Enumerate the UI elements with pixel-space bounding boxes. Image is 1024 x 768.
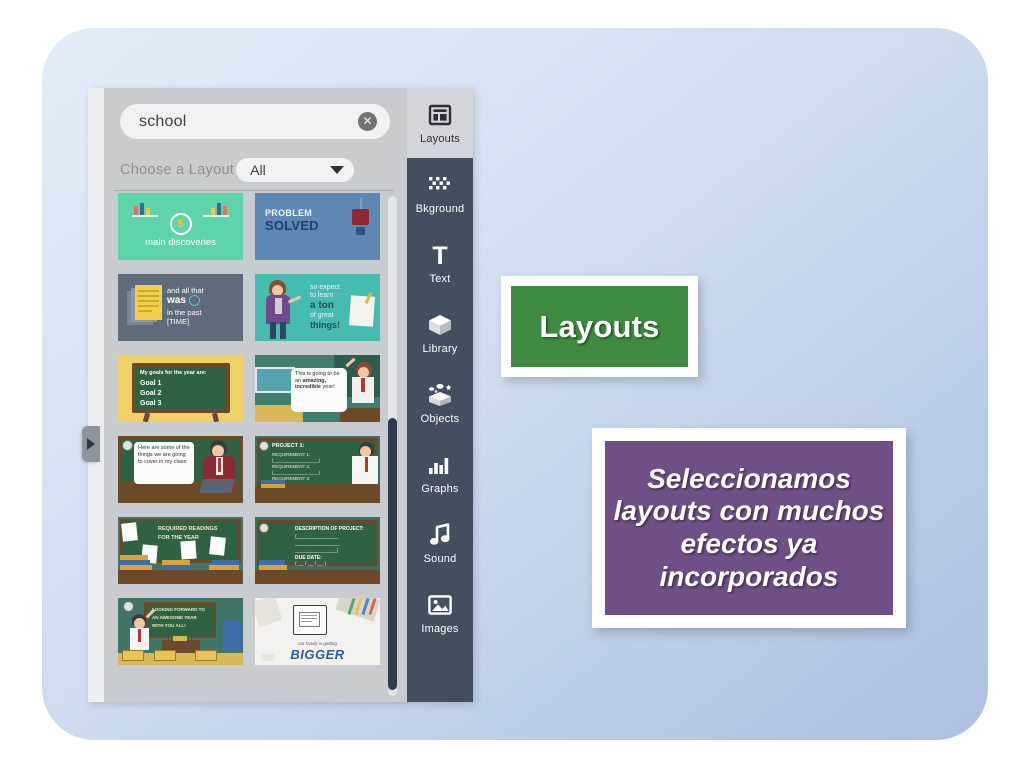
sidebar-item-objects[interactable]: Objects: [407, 368, 473, 438]
layout-thumbnail[interactable]: and all that was in the past [TIME]: [118, 274, 243, 341]
header-divider: [114, 190, 394, 191]
layout-thumbnail[interactable]: PROBLEM SOLVED: [255, 193, 380, 260]
search-input[interactable]: school ✕: [120, 104, 390, 139]
images-icon: [427, 592, 453, 618]
objects-icon: [427, 382, 453, 408]
sidebar-item-label: Text: [430, 273, 451, 285]
filter-row: Choose a Layout All: [104, 150, 407, 190]
left-rail: [88, 88, 104, 702]
sidebar-item-label: Sound: [424, 553, 457, 565]
sound-icon: [427, 522, 453, 548]
sidebar-item-label: Library: [422, 343, 457, 355]
sidebar-item-label: Graphs: [421, 483, 458, 495]
scrollbar-thumb[interactable]: [388, 418, 397, 690]
layout-thumbnail[interactable]: LOOKING FORWARD TO AN AWESOME YEAR WITH …: [118, 598, 243, 665]
chevron-right-icon: [87, 438, 95, 450]
search-input-value: school: [139, 113, 358, 131]
callout-layouts-text: Layouts: [511, 286, 688, 367]
layout-thumbnail[interactable]: PROJECT 1: REQUIREMENT 1: (_____________…: [255, 436, 380, 503]
sidebar-item-images[interactable]: Images: [407, 578, 473, 648]
layout-thumbnail[interactable]: This is going to be an amazing, incredib…: [255, 355, 380, 422]
sidebar-item-label: Layouts: [420, 133, 460, 145]
layout-thumbnail[interactable]: so expect to learn a ton of great things…: [255, 274, 380, 341]
screen: school ✕ Choose a Layout All 5: [0, 0, 1024, 768]
sidebar-item-layouts[interactable]: Layouts: [407, 88, 473, 158]
clear-search-icon[interactable]: ✕: [358, 112, 377, 131]
layouts-browse-panel: school ✕ Choose a Layout All 5: [104, 88, 407, 702]
layout-filter-select[interactable]: All: [236, 158, 354, 182]
layout-thumbnail[interactable]: Here are some of the things we are going…: [118, 436, 243, 503]
search-row: school ✕: [104, 88, 407, 150]
layout-thumbnail[interactable]: our family is getting BIGGER: [255, 598, 380, 665]
tool-sidebar: LayoutsBkgroundTTextLibraryObjectsGraphs…: [407, 88, 473, 702]
layout-thumbnail[interactable]: REQUIRED READINGS FOR THE YEAR: [118, 517, 243, 584]
choose-layout-label: Choose a Layout: [120, 162, 234, 178]
library-icon: [427, 312, 453, 338]
thumbnail-scroll-area[interactable]: 5 main discoveries PROBLEM SOLVED and al…: [104, 193, 407, 702]
bkground-icon: [427, 172, 453, 198]
layout-thumbnail[interactable]: 5 main discoveries: [118, 193, 243, 260]
text-icon: T: [427, 242, 453, 268]
sidebar-item-label: Bkground: [416, 203, 465, 215]
sidebar-item-label: Images: [421, 623, 458, 635]
app-window: school ✕ Choose a Layout All 5: [88, 88, 473, 702]
scrollbar-track[interactable]: [388, 196, 397, 696]
svg-text:T: T: [432, 243, 447, 267]
sidebar-item-label: Objects: [421, 413, 460, 425]
graphs-icon: [427, 452, 453, 478]
callout-description: Seleccionamos layouts con muchos efectos…: [592, 428, 906, 628]
layout-thumbnail[interactable]: DESCRIPTION OF PROJECT: (_______________…: [255, 517, 380, 584]
layout-thumbnail[interactable]: My goals for the year are: Goal 1 Goal 2…: [118, 355, 243, 422]
thumbnail-grid: 5 main discoveries PROBLEM SOLVED and al…: [118, 193, 380, 665]
callout-description-text: Seleccionamos layouts con muchos efectos…: [605, 441, 893, 615]
callout-layouts: Layouts: [501, 276, 698, 377]
layouts-icon: [427, 102, 453, 128]
layout-filter-value: All: [250, 162, 330, 178]
sidebar-item-library[interactable]: Library: [407, 298, 473, 368]
sidebar-item-graphs[interactable]: Graphs: [407, 438, 473, 508]
chevron-down-icon: [330, 166, 344, 174]
sidebar-item-bkground[interactable]: Bkground: [407, 158, 473, 228]
sidebar-item-text[interactable]: TText: [407, 228, 473, 298]
collapse-panel-button[interactable]: [82, 426, 100, 462]
sidebar-item-sound[interactable]: Sound: [407, 508, 473, 578]
